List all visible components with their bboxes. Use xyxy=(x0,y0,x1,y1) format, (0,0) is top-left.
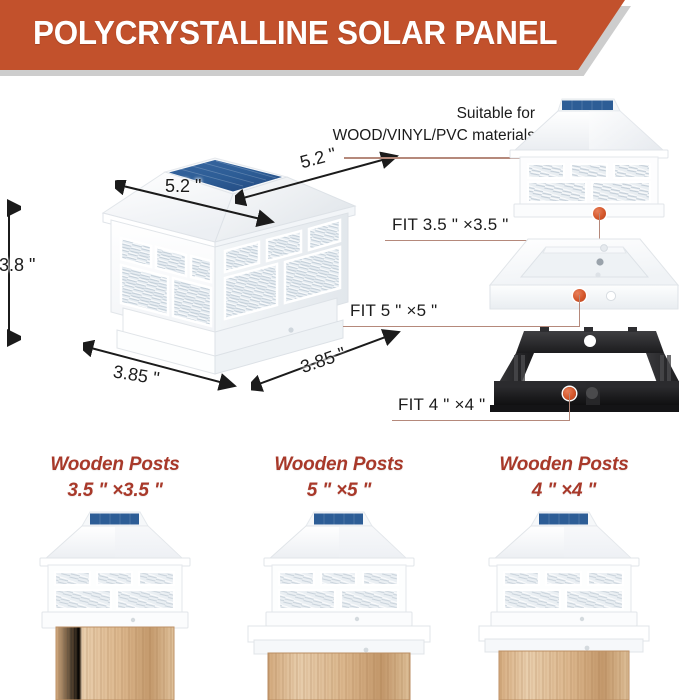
fit-label-5: FIT 5 " ×5 " xyxy=(350,301,437,321)
post-example-1-line2: 3.5 " ×3.5 " xyxy=(67,480,162,501)
header-banner: POLYCRYSTALLINE SOLAR PANEL xyxy=(0,0,679,82)
dimension-top-left-label: 5.2 " xyxy=(165,176,201,197)
post-example-2-line2: 5 " ×5 " xyxy=(307,480,371,501)
post-cap-front-illustration xyxy=(492,95,679,220)
main-product-diagram: 3.8 " 5.2 " 5.2 " xyxy=(55,150,375,395)
callout-vertical-4 xyxy=(569,393,571,421)
post-example-2-title: Wooden Posts 5 " ×5 " xyxy=(226,452,452,504)
post-example-2-illustration xyxy=(226,504,452,700)
black-adapter-bracket-illustration xyxy=(488,319,679,419)
fit-label-4: FIT 4 " ×4 " xyxy=(398,395,485,415)
page-title: POLYCRYSTALLINE SOLAR PANEL xyxy=(33,14,557,52)
post-example-3-line2: 4 " ×4 " xyxy=(532,480,596,501)
compatibility-diagram: Suitable for WOOD/VINYL/PVC materials xyxy=(330,95,679,435)
post-example-1-line1: Wooden Posts xyxy=(50,454,179,475)
fit-label-3p5: FIT 3.5 " ×3.5 " xyxy=(392,215,509,235)
post-example-1-title: Wooden Posts 3.5 " ×3.5 " xyxy=(2,452,228,504)
callout-horizontal-4 xyxy=(392,420,570,422)
post-example-3-illustration xyxy=(451,504,677,700)
post-example-1-illustration xyxy=(2,504,228,700)
dimension-height-label: 3.8 " xyxy=(0,255,35,276)
post-example-2-line1: Wooden Posts xyxy=(274,454,403,475)
dimension-base-left-arrow xyxy=(83,340,248,400)
post-example-3-line1: Wooden Posts xyxy=(499,454,628,475)
post-example-3-title: Wooden Posts 4 " ×4 " xyxy=(451,452,677,504)
